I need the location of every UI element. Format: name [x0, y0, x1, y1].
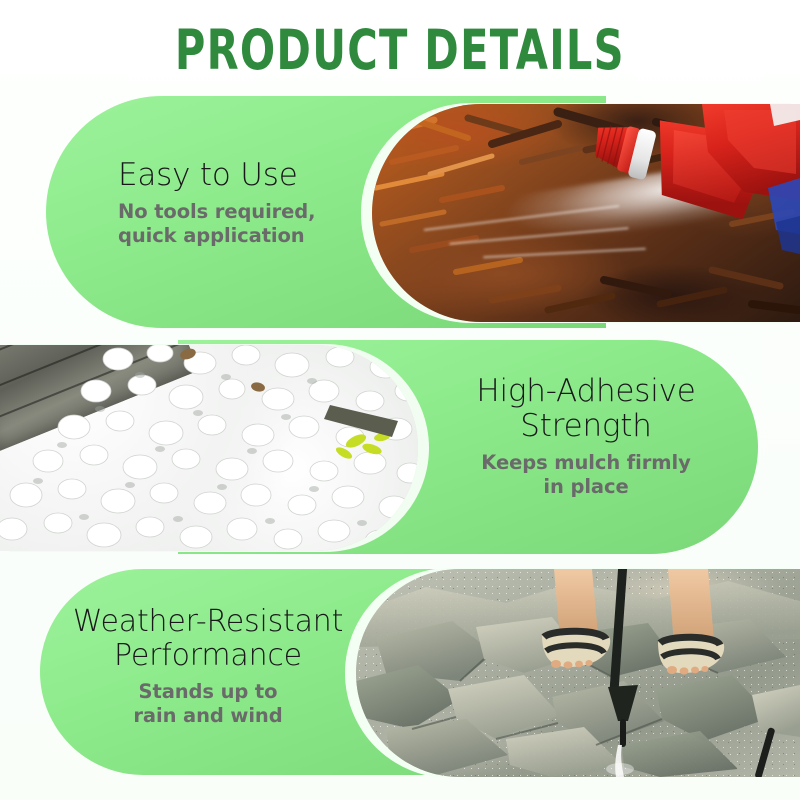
spray-bottle: [372, 104, 800, 322]
feature-card-weather-resistant-performance: Weather-Resistant Performance Stands up …: [0, 565, 800, 777]
feature-subtext-line-2: in place: [436, 475, 736, 499]
feature-heading-line-1: Weather-Resistant: [48, 605, 368, 639]
feature-text-block: Weather-Resistant Performance Stands up …: [48, 605, 368, 729]
feature-heading: Easy to Use: [118, 158, 398, 193]
feature-image-spray-on-mulch: [372, 104, 800, 322]
feature-subtext-line-2: quick application: [118, 224, 398, 248]
feature-image-white-gravel: [0, 345, 418, 551]
feature-subtext: Keeps mulch firmly in place: [436, 451, 736, 500]
feature-heading: High-Adhesive Strength: [436, 374, 736, 444]
feature-heading-line-2: Performance: [48, 639, 368, 673]
feature-heading-line-1: High-Adhesive: [436, 374, 736, 409]
feature-heading: Weather-Resistant Performance: [48, 605, 368, 673]
feature-subtext: Stands up to rain and wind: [48, 680, 368, 729]
feature-subtext-line-2: rain and wind: [48, 704, 368, 728]
feature-text-block: High-Adhesive Strength Keeps mulch firml…: [436, 374, 736, 500]
page-title-container: PRODUCT DETAILS: [0, 22, 800, 78]
feature-image-rocks-and-sandals: [356, 569, 800, 777]
feature-subtext: No tools required, quick application: [118, 200, 398, 249]
feature-subtext-line-1: No tools required,: [118, 200, 398, 224]
page-title: PRODUCT DETAILS: [175, 22, 625, 78]
rocks-and-figure: [356, 569, 800, 777]
feature-text-block: Easy to Use No tools required, quick app…: [118, 158, 398, 249]
feature-subtext-line-1: Keeps mulch firmly: [436, 451, 736, 475]
feature-card-high-adhesive-strength: High-Adhesive Strength Keeps mulch firml…: [0, 340, 800, 555]
infographic-page: PRODUCT DETAILS: [0, 0, 800, 800]
feature-heading-line-2: Strength: [436, 409, 736, 444]
gravel-stones: [0, 345, 418, 551]
feature-subtext-line-1: Stands up to: [48, 680, 368, 704]
feature-card-easy-to-use: Easy to Use No tools required, quick app…: [0, 96, 800, 330]
